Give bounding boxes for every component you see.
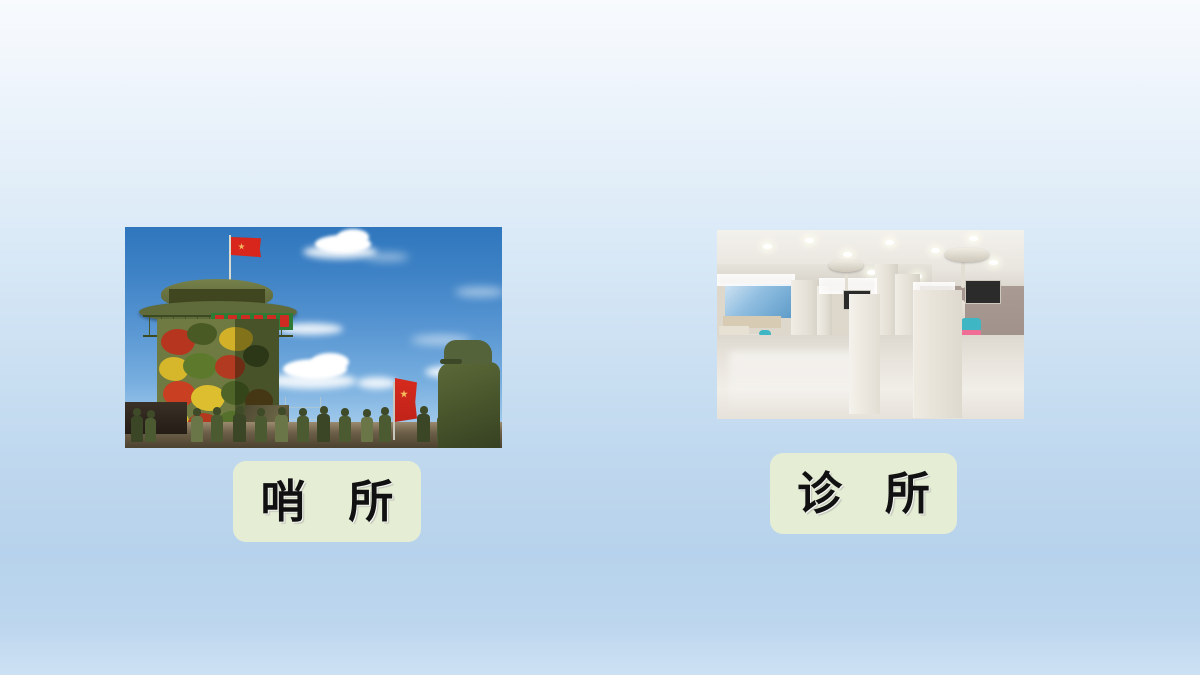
ceiling-downlight <box>989 260 998 265</box>
cloud <box>357 377 397 389</box>
cloud <box>455 287 502 297</box>
partition-wall-foreground <box>849 294 880 414</box>
clinic-scene <box>717 230 1024 419</box>
ceiling-downlight <box>931 248 940 253</box>
word-label-sentry-post[interactable]: 哨 所 <box>233 461 421 542</box>
soldier <box>145 418 156 442</box>
soldier <box>361 417 373 442</box>
word-text: 诊 所 <box>784 471 944 516</box>
cloud <box>337 229 369 245</box>
soldier <box>211 415 223 442</box>
soldier <box>297 416 309 442</box>
reception-glass-panel <box>717 274 795 286</box>
operating-light-head <box>945 248 989 262</box>
slide-canvas: 哨 所 诊 所 <box>0 0 1200 675</box>
soldier <box>233 414 246 442</box>
soldier <box>379 415 391 442</box>
ceiling-downlight <box>763 244 772 249</box>
cloud <box>311 353 349 371</box>
operating-light-head <box>829 260 863 272</box>
soldier <box>131 416 143 442</box>
photo-dental-clinic <box>717 230 1024 419</box>
word-text: 哨 所 <box>247 479 407 524</box>
soldier <box>255 416 267 442</box>
soldier <box>275 415 288 442</box>
soldier <box>317 414 330 442</box>
ceiling-downlight <box>805 238 814 243</box>
soldier-cap <box>444 340 492 364</box>
cloud <box>365 253 409 261</box>
soldier <box>417 414 430 442</box>
ceiling-downlight <box>969 236 978 241</box>
clinic-window <box>725 284 791 318</box>
camo-patch <box>187 323 217 345</box>
ceiling-downlight <box>843 252 852 257</box>
soldier <box>339 416 351 442</box>
foreground-soldier <box>438 362 500 448</box>
partition-wall-foreground <box>913 290 962 418</box>
wall-monitor <box>965 280 1001 304</box>
red-flag-on-tower <box>231 237 261 258</box>
sentry-scene <box>125 227 502 448</box>
ceiling-downlight <box>885 240 894 245</box>
soldier <box>191 416 203 442</box>
camo-patch <box>183 353 217 379</box>
word-label-clinic[interactable]: 诊 所 <box>770 453 957 534</box>
troop-red-flag <box>395 378 417 422</box>
photo-sentry-post <box>125 227 502 448</box>
troop-flagpole <box>393 382 395 440</box>
